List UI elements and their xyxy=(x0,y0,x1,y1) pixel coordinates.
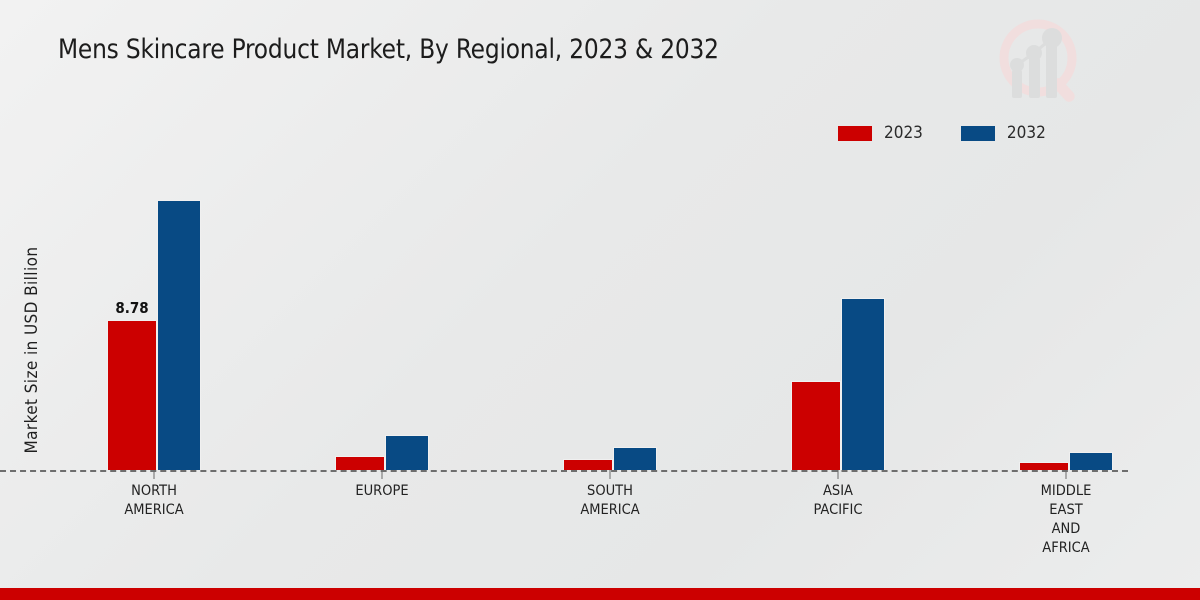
x-axis-tick xyxy=(1066,470,1067,479)
bar-groups: 8.78NORTHAMERICAEUROPESOUTHAMERICAASIAPA… xyxy=(40,170,1180,470)
bar-group: ASIAPACIFIC xyxy=(724,170,952,470)
bar-2032[interactable] xyxy=(157,200,201,470)
category-label-line: EUROPE xyxy=(355,482,408,501)
x-axis-baseline xyxy=(0,470,1128,472)
watermark-logo-icon xyxy=(986,8,1094,116)
bar-2023[interactable] xyxy=(791,381,841,470)
y-axis-label: Market Size in USD Billion xyxy=(22,170,42,530)
legend-label-2032: 2032 xyxy=(1007,123,1046,143)
category-label-line: NORTH xyxy=(124,482,183,501)
legend-label-2023: 2023 xyxy=(884,123,923,143)
bar-group: SOUTHAMERICA xyxy=(496,170,724,470)
footer-accent-bar xyxy=(0,588,1200,600)
legend-item-2032[interactable]: 2032 xyxy=(961,123,1046,143)
category-label-line: AMERICA xyxy=(124,501,183,520)
x-axis-tick xyxy=(382,470,383,479)
x-axis-category-label: ASIAPACIFIC xyxy=(813,482,862,520)
bar-2023[interactable] xyxy=(335,456,385,470)
category-label-line: MIDDLE xyxy=(1041,482,1092,501)
bar-2032[interactable] xyxy=(385,435,429,470)
chart-container: Mens Skincare Product Market, By Regiona… xyxy=(0,0,1200,600)
category-label-line: AFRICA xyxy=(1041,539,1092,558)
category-label-line: AMERICA xyxy=(580,501,639,520)
x-axis-category-label: SOUTHAMERICA xyxy=(580,482,639,520)
legend-swatch-2023 xyxy=(838,126,872,141)
chart-legend: 2023 2032 xyxy=(838,123,1046,143)
bar-group: MIDDLEEASTANDAFRICA xyxy=(952,170,1180,470)
bar-2032[interactable] xyxy=(613,447,657,470)
x-axis-tick xyxy=(610,470,611,479)
x-axis-category-label: NORTHAMERICA xyxy=(124,482,183,520)
legend-item-2023[interactable]: 2023 xyxy=(838,123,923,143)
chart-title: Mens Skincare Product Market, By Regiona… xyxy=(58,34,719,65)
category-label-line: EAST xyxy=(1041,501,1092,520)
bar-group: 8.78NORTHAMERICA xyxy=(40,170,268,470)
category-label-line: AND xyxy=(1041,520,1092,539)
bar-2032[interactable] xyxy=(841,298,885,470)
legend-swatch-2032 xyxy=(961,126,995,141)
bar-2023[interactable] xyxy=(1019,462,1069,470)
x-axis-tick xyxy=(838,470,839,479)
category-label-line: ASIA xyxy=(813,482,862,501)
x-axis-category-label: MIDDLEEASTANDAFRICA xyxy=(1041,482,1092,558)
bar-group: EUROPE xyxy=(268,170,496,470)
bar-value-label: 8.78 xyxy=(107,299,157,317)
category-label-line: PACIFIC xyxy=(813,501,862,520)
x-axis-category-label: EUROPE xyxy=(355,482,408,501)
x-axis-tick xyxy=(154,470,155,479)
bar-2023[interactable] xyxy=(563,459,613,470)
bar-2023[interactable] xyxy=(107,320,157,471)
category-label-line: SOUTH xyxy=(580,482,639,501)
bar-2032[interactable] xyxy=(1069,452,1113,471)
